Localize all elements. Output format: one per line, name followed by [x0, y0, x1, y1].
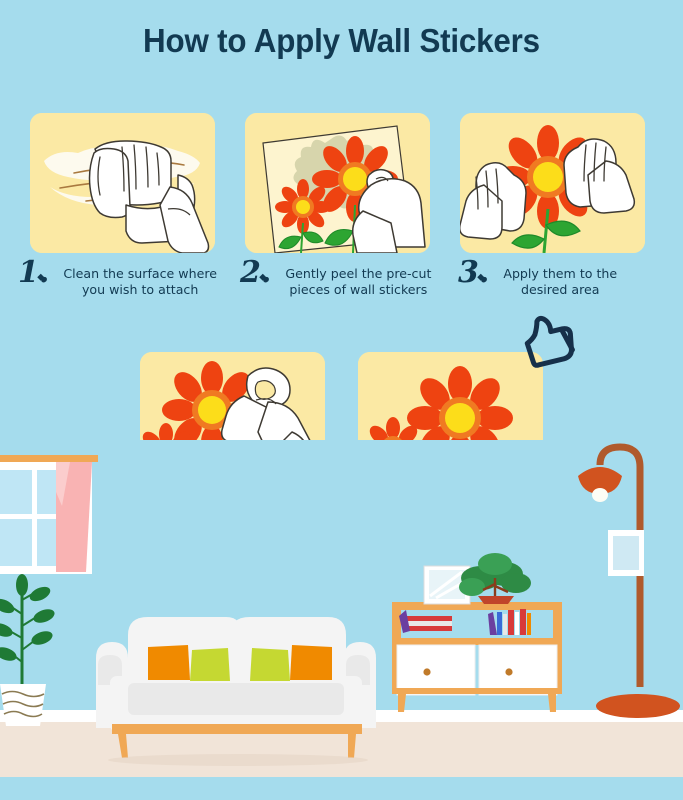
- thumbs-up-icon: [518, 312, 584, 372]
- step-panel-1: [30, 113, 215, 253]
- step-panel-2: [245, 113, 430, 253]
- step-text-1: Clean the surface where you wish to atta…: [63, 262, 217, 297]
- applying-sticker-illustration: [460, 113, 645, 253]
- step-text-2: Gently peel the pre-cut pieces of wall s…: [285, 262, 431, 297]
- pink-curtain: [56, 462, 92, 572]
- wall-picture-frame: [608, 530, 644, 576]
- step-panel-3: [460, 113, 645, 253]
- green-pillow-right: [250, 648, 290, 681]
- step-text-3: Apply them to the desired area: [503, 262, 617, 297]
- step-label-3: 3. Apply them to the desired area: [458, 262, 663, 297]
- step-number-3: 3.: [458, 258, 489, 288]
- hand-wiping-surface-illustration: [30, 113, 215, 253]
- infographic-canvas: How to Apply Wall Stickers: [0, 0, 683, 800]
- room-scene: [0, 440, 683, 800]
- peeling-sticker-illustration: [245, 113, 430, 253]
- step-number-2: 2.: [240, 258, 271, 288]
- curtain-rod: [0, 455, 98, 462]
- orange-pillow-right: [290, 645, 332, 680]
- page-title: How to Apply Wall Stickers: [17, 22, 666, 60]
- step-label-1: 1. Clean the surface where you wish to a…: [18, 262, 223, 297]
- orange-pillow-left: [148, 645, 190, 680]
- green-pillow-left: [190, 648, 230, 681]
- step-number-1: 1.: [18, 258, 49, 288]
- step-label-2: 2. Gently peel the pre-cut pieces of wal…: [240, 262, 440, 297]
